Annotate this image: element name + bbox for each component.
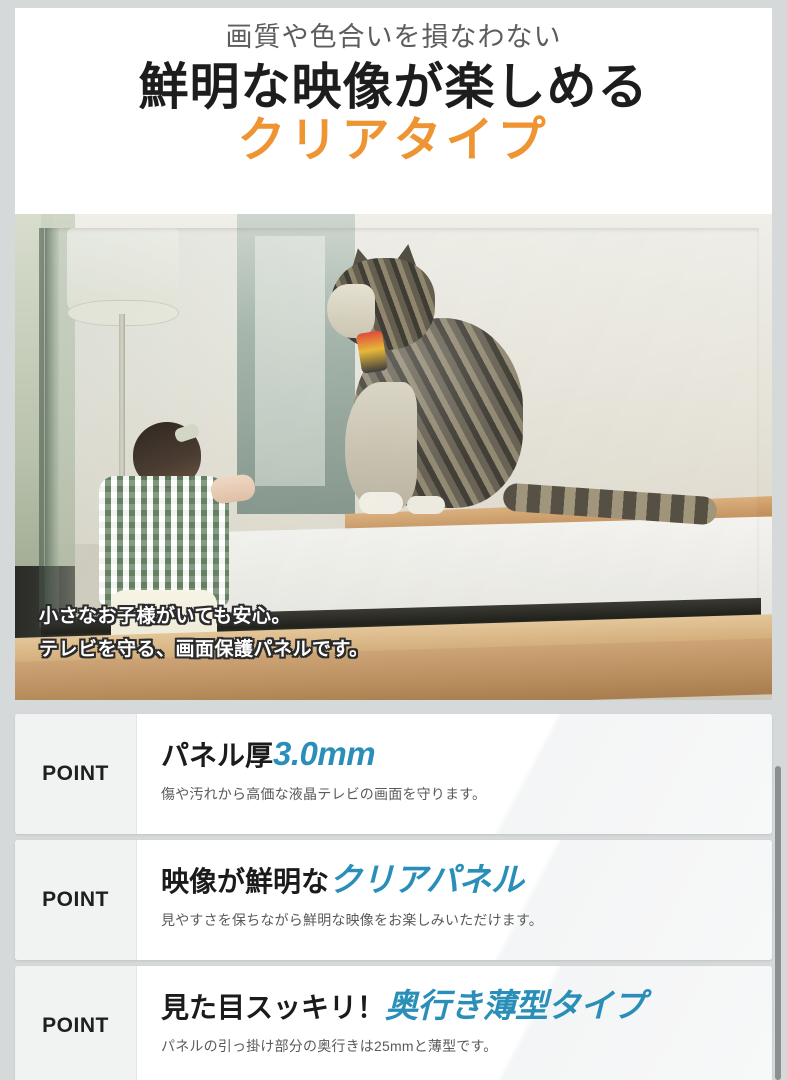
- point-title-prefix: 映像が鮮明な: [161, 866, 329, 897]
- point-title: パネル厚3.0mm: [161, 736, 772, 772]
- points-list: POINT パネル厚3.0mm 傷や汚れから高価な液晶テレビの画面を守ります。 …: [15, 714, 772, 1080]
- photo-caption-line-1: 小さなお子様がいても安心。: [39, 600, 369, 633]
- point-subtitle: 傷や汚れから高価な液晶テレビの画面を守ります。: [161, 785, 772, 803]
- point-body: 見た目スッキリ！奥行き薄型タイプ パネルの引っ掛け部分の奥行きは25mmと薄型で…: [137, 966, 772, 1080]
- point-card[interactable]: POINT 見た目スッキリ！奥行き薄型タイプ パネルの引っ掛け部分の奥行きは25…: [15, 966, 772, 1080]
- photo-child-body: [99, 476, 229, 606]
- point-title-prefix: 見た目スッキリ！: [161, 992, 385, 1023]
- hero-photo: 小さなお子様がいても安心。 テレビを守る、画面保護パネルです。: [15, 214, 772, 700]
- point-title-prefix: パネル厚: [161, 740, 273, 771]
- photo-protective-panel-edge: [45, 228, 59, 628]
- point-subtitle: パネルの引っ掛け部分の奥行きは25mmと薄型です。: [161, 1037, 772, 1055]
- hero-banner: 画質や色合いを損なわない 鮮明な映像が楽しめる クリアタイプ: [15, 8, 772, 700]
- point-title: 映像が鮮明なクリアパネル: [161, 862, 772, 898]
- vertical-scrollbar-track[interactable]: [774, 0, 785, 1080]
- point-card[interactable]: POINT パネル厚3.0mm 傷や汚れから高価な液晶テレビの画面を守ります。: [15, 714, 772, 834]
- vertical-scrollbar-thumb[interactable]: [775, 766, 781, 1080]
- point-label: POINT: [42, 888, 109, 912]
- point-title-highlight: 奥行き薄型タイプ: [385, 987, 645, 1024]
- hero-heading-block: 画質や色合いを損なわない 鮮明な映像が楽しめる クリアタイプ: [15, 8, 772, 214]
- point-subtitle: 見やすさを保ちながら鮮明な映像をお楽しみいただけます。: [161, 911, 772, 929]
- point-body: パネル厚3.0mm 傷や汚れから高価な液晶テレビの画面を守ります。: [137, 714, 772, 834]
- point-label-column: POINT: [15, 840, 137, 960]
- point-label: POINT: [42, 762, 109, 786]
- hero-headline: 鮮明な映像が楽しめる: [15, 59, 772, 117]
- hero-kicker: 画質や色合いを損なわない: [15, 18, 772, 57]
- point-body: 映像が鮮明なクリアパネル 見やすさを保ちながら鮮明な映像をお楽しみいただけます。: [137, 840, 772, 960]
- point-label-column: POINT: [15, 714, 137, 834]
- point-card[interactable]: POINT 映像が鮮明なクリアパネル 見やすさを保ちながら鮮明な映像をお楽しみい…: [15, 840, 772, 960]
- page-root: 画質や色合いを損なわない 鮮明な映像が楽しめる クリアタイプ: [0, 0, 787, 1080]
- point-label-column: POINT: [15, 966, 137, 1080]
- point-title-highlight: クリアパネル: [329, 861, 523, 898]
- photo-caption-line-2: テレビを守る、画面保護パネルです。: [39, 633, 369, 666]
- hero-headline-accent: クリアタイプ: [15, 115, 772, 168]
- photo-caption: 小さなお子様がいても安心。 テレビを守る、画面保護パネルです。: [39, 600, 369, 667]
- point-label: POINT: [42, 1014, 109, 1038]
- point-title: 見た目スッキリ！奥行き薄型タイプ: [161, 988, 772, 1024]
- point-title-highlight: 3.0mm: [273, 735, 375, 772]
